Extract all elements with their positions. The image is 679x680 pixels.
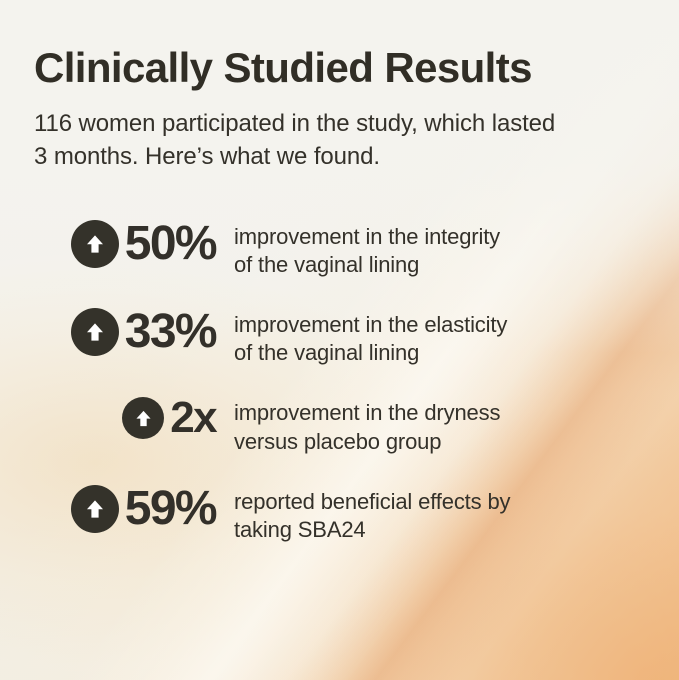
stat-value-group: 50% — [34, 219, 216, 268]
stat-description-line: versus placebo group — [234, 428, 645, 456]
stat-row: 2x improvement in the dryness versus pla… — [34, 395, 645, 455]
stat-row: 59% reported beneficial effects by takin… — [34, 484, 645, 544]
stat-value-group: 33% — [34, 307, 216, 356]
stat-description-line: reported beneficial effects by — [234, 488, 645, 516]
statistics-list: 50% improvement in the integrity of the … — [34, 173, 645, 544]
stat-description-line: of the vaginal lining — [234, 339, 645, 367]
stat-value: 2x — [170, 396, 216, 440]
stat-description: reported beneficial effects by taking SB… — [216, 484, 645, 544]
arrow-up-circle-icon — [71, 485, 119, 533]
infographic-card: Clinically Studied Results 116 women par… — [0, 0, 679, 680]
stat-value: 33% — [125, 308, 216, 356]
content-container: Clinically Studied Results 116 women par… — [0, 0, 679, 544]
stat-description: improvement in the dryness versus placeb… — [216, 395, 645, 455]
stat-row: 33% improvement in the elasticity of the… — [34, 307, 645, 367]
stat-row: 50% improvement in the integrity of the … — [34, 219, 645, 279]
stat-description-line: improvement in the elasticity — [234, 311, 645, 339]
stat-value: 59% — [125, 485, 216, 533]
stat-description-line: of the vaginal lining — [234, 251, 645, 279]
stat-value-group: 59% — [34, 484, 216, 533]
stat-description: improvement in the integrity of the vagi… — [216, 219, 645, 279]
page-title: Clinically Studied Results — [34, 0, 645, 91]
arrow-up-circle-icon — [122, 397, 164, 439]
stat-description-line: improvement in the dryness — [234, 399, 645, 427]
stat-description: improvement in the elasticity of the vag… — [216, 307, 645, 367]
page-subtitle: 116 women participated in the study, whi… — [34, 91, 574, 173]
arrow-up-circle-icon — [71, 308, 119, 356]
stat-description-line: taking SBA24 — [234, 516, 645, 544]
stat-description-line: improvement in the integrity — [234, 223, 645, 251]
stat-value: 50% — [125, 220, 216, 268]
stat-value-group: 2x — [34, 395, 216, 440]
arrow-up-circle-icon — [71, 220, 119, 268]
